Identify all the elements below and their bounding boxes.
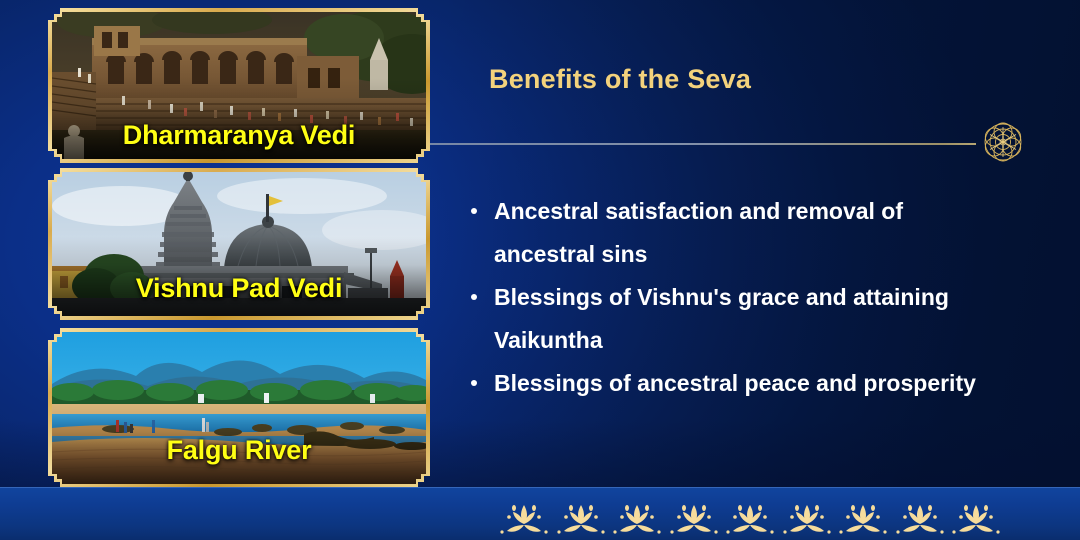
horizontal-divider bbox=[430, 143, 976, 145]
image-card-inner: Dharmaranya Vedi bbox=[52, 12, 426, 159]
benefits-list: Ancestral satisfaction and removal of an… bbox=[462, 190, 1002, 405]
list-item: Ancestral satisfaction and removal of an… bbox=[462, 190, 1002, 276]
image-card-dharmaranya-vedi[interactable]: Dharmaranya Vedi bbox=[48, 8, 430, 163]
image-card-vishnu-pad-vedi[interactable]: Vishnu Pad Vedi bbox=[48, 168, 430, 320]
slide-root: Dharmaranya Vedi bbox=[0, 0, 1080, 540]
lotus-motif-icon bbox=[838, 501, 888, 535]
lotus-motif-icon bbox=[669, 501, 719, 535]
lotus-motif-icon bbox=[612, 501, 662, 535]
image-card-inner: Falgu River bbox=[52, 332, 426, 484]
image-card-falgu-river[interactable]: Falgu River bbox=[48, 328, 430, 488]
benefits-list-items: Ancestral satisfaction and removal of an… bbox=[462, 190, 1002, 405]
image-card-label: Dharmaranya Vedi bbox=[52, 120, 426, 151]
image-card-label: Vishnu Pad Vedi bbox=[52, 273, 426, 304]
list-item: Blessings of Vishnu's grace and attainin… bbox=[462, 276, 1002, 362]
lotus-motif-icon bbox=[556, 501, 606, 535]
lotus-motif-icon bbox=[782, 501, 832, 535]
list-item: Blessings of ancestral peace and prosper… bbox=[462, 362, 1002, 405]
page-title: Benefits of the Seva bbox=[489, 64, 751, 95]
lotus-motif-icon bbox=[499, 501, 549, 535]
lotus-motif-icon bbox=[895, 501, 945, 535]
image-card-label: Falgu River bbox=[52, 435, 426, 466]
image-card-inner: Vishnu Pad Vedi bbox=[52, 172, 426, 316]
mandala-rosette-icon bbox=[976, 115, 1030, 169]
lotus-motif-icon bbox=[725, 501, 775, 535]
lotus-border-ornament bbox=[499, 501, 1001, 535]
lotus-motif-icon bbox=[951, 501, 1001, 535]
